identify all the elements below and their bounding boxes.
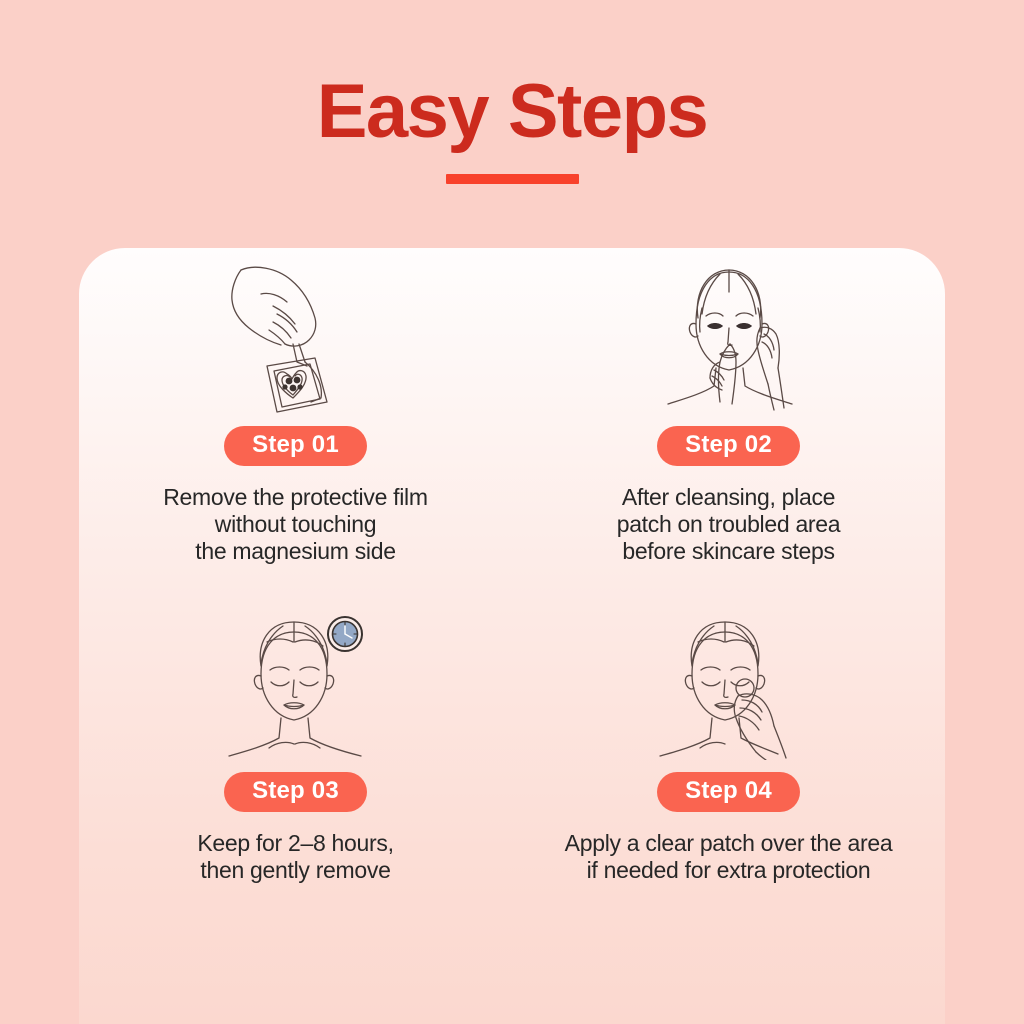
page-title: Easy Steps [317,0,708,152]
step-caption-02: After cleansing, place patch on troubled… [617,484,841,565]
step-02-line-1: After cleansing, place [617,484,841,511]
header: Easy Steps [0,0,1024,248]
step-04-illustration [644,608,814,760]
step-item-04: Step 04 Apply a clear patch over the are… [512,598,945,948]
step-02-line-2: patch on troubled area [617,511,841,538]
step-03-line-1: Keep for 2–8 hours, [197,830,393,857]
step-04-line-2: if needed for extra protection [565,857,893,884]
step-badge-03: Step 03 [224,772,367,812]
step-item-03: Step 03 Keep for 2–8 hours, then gently … [79,598,512,948]
step-caption-03: Keep for 2–8 hours, then gently remove [197,830,393,884]
step-04-line-1: Apply a clear patch over the area [565,830,893,857]
step-item-01: Step 01 Remove the protective film witho… [79,248,512,598]
face-pressing-clear-patch-icon [644,608,814,760]
step-01-line-2: without touching [163,511,427,538]
step-01-line-3: the magnesium side [163,538,427,565]
clock-icon [328,617,362,651]
steps-card: Step 01 Remove the protective film witho… [79,248,945,1024]
step-caption-01: Remove the protective film without touch… [163,484,427,565]
step-01-illustration [211,262,381,414]
face-applying-patch-icon [644,262,814,414]
step-item-02: Step 02 After cleansing, place patch on … [512,248,945,598]
hand-peeling-patch-icon [211,262,381,414]
title-underline [446,174,579,184]
step-badge-04: Step 04 [657,772,800,812]
face-waiting-with-clock-icon [211,608,381,760]
step-caption-04: Apply a clear patch over the area if nee… [565,830,893,884]
step-01-line-1: Remove the protective film [163,484,427,511]
step-badge-02: Step 02 [657,426,800,466]
step-02-line-3: before skincare steps [617,538,841,565]
step-03-illustration [211,608,381,760]
step-badge-01: Step 01 [224,426,367,466]
step-02-illustration [644,262,814,414]
steps-grid: Step 01 Remove the protective film witho… [79,248,945,948]
step-03-line-2: then gently remove [197,857,393,884]
